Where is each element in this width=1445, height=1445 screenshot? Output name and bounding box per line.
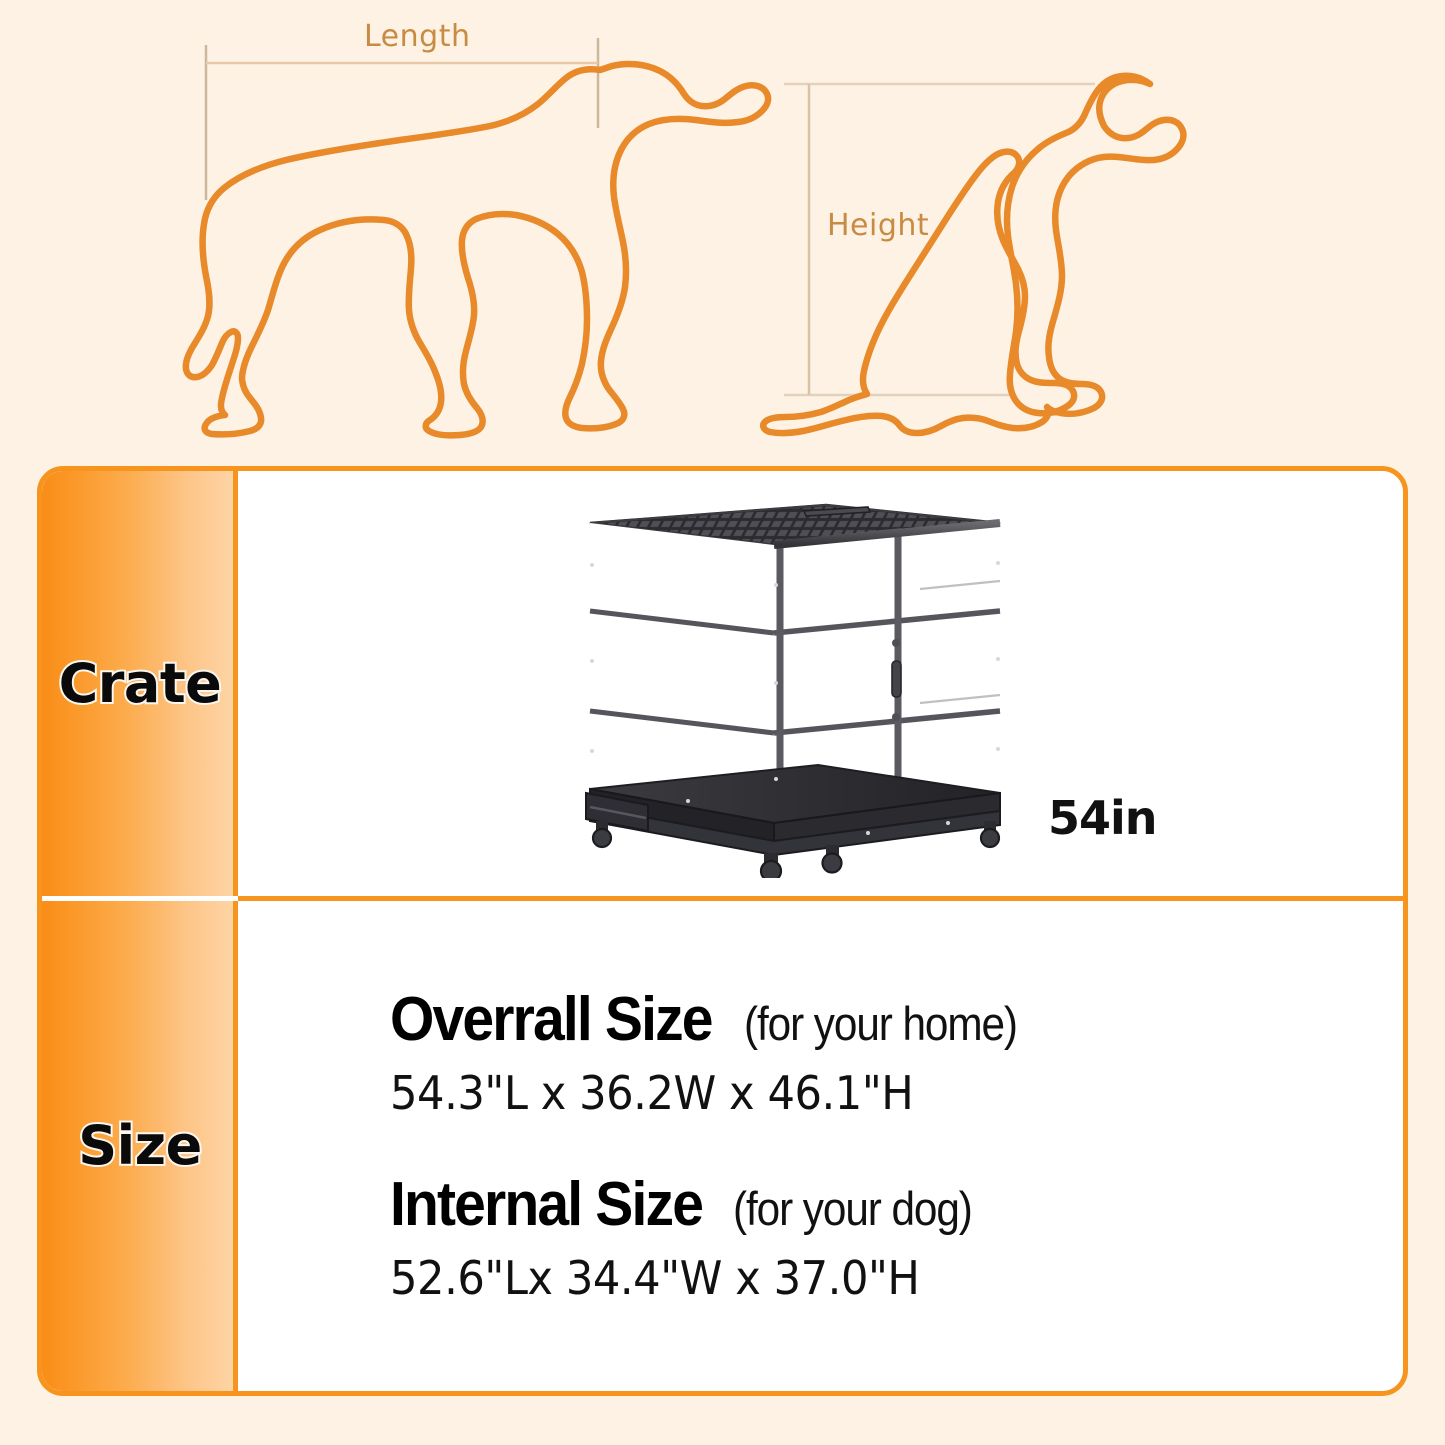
overall-size-heading: Overrall Size	[390, 987, 712, 1052]
crate-dimension-caption: 54in	[1048, 791, 1157, 845]
internal-size-dimensions: 52.6"Lx 34.4"W x 37.0"H	[390, 1251, 1342, 1305]
overall-size-dimensions: 54.3"L x 36.2W x 46.1"H	[390, 1066, 1342, 1120]
row-label-cell-size: Size	[42, 901, 238, 1391]
internal-size-heading: Internal Size	[390, 1172, 702, 1237]
length-label: Length	[364, 19, 470, 54]
row-label-crate: Crate	[59, 657, 222, 711]
size-measurement-diagram: Length Height	[0, 0, 1445, 455]
heavy-duty-dog-crate-photo	[568, 493, 1013, 878]
table-row-size: Size Overrall Size (for your home) 54.3"…	[42, 901, 1403, 1391]
row-content-crate: 54in	[238, 471, 1403, 896]
internal-size-group: Internal Size (for your dog) 52.6"Lx 34.…	[390, 1172, 1403, 1305]
overall-size-note: (for your home)	[744, 996, 1017, 1051]
diagram-svg: Length Height	[0, 0, 1445, 455]
internal-size-note: (for your dog)	[733, 1181, 972, 1236]
spec-table: Crate	[37, 466, 1408, 1396]
row-content-size: Overrall Size (for your home) 54.3"L x 3…	[238, 901, 1403, 1391]
height-label: Height	[827, 208, 929, 243]
length-guide	[206, 38, 598, 200]
overall-size-group: Overrall Size (for your home) 54.3"L x 3…	[390, 987, 1403, 1120]
size-specifications: Overrall Size (for your home) 54.3"L x 3…	[238, 987, 1403, 1305]
sitting-dog-outline	[763, 76, 1183, 433]
table-row-crate: Crate	[42, 471, 1403, 896]
standing-dog-outline	[186, 64, 768, 435]
crate-figure: 54in	[238, 471, 1403, 896]
row-label-cell-crate: Crate	[42, 471, 238, 896]
row-label-size: Size	[78, 1119, 201, 1173]
